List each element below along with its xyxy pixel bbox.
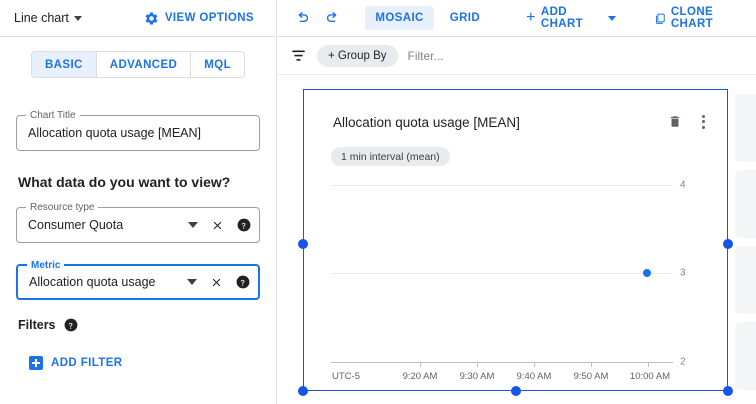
x-tick-label-950: 9:50 AM (574, 371, 609, 382)
filters-label: Filters (18, 318, 56, 332)
chevron-down-icon (74, 16, 82, 21)
dashboard-toolbar: MOSAIC GRID + ADD CHART CLONE CHART (278, 0, 756, 37)
resource-type-field[interactable]: Resource type Consumer Quota (16, 207, 260, 243)
x-tick-mark (648, 362, 649, 367)
chart-type-dropdown[interactable]: Line chart (14, 11, 82, 25)
help-icon[interactable] (236, 275, 250, 289)
filters-heading: Filters (18, 318, 78, 332)
filter-input[interactable]: Filter... (408, 49, 444, 63)
adjacent-card-placeholder[interactable] (735, 94, 756, 162)
resize-handle-bottom-center[interactable] (511, 386, 521, 396)
monitoring-chart-editor: Line chart VIEW OPTIONS BASIC ADVANCED M… (0, 0, 756, 404)
resource-type-value: Consumer Quota (28, 218, 123, 232)
x-tick-mark (591, 362, 592, 367)
resize-handle-bottom-left[interactable] (298, 386, 308, 396)
metric-value: Allocation quota usage (29, 275, 155, 289)
view-options-button[interactable]: VIEW OPTIONS (144, 11, 254, 26)
x-tick-label-920: 9:20 AM (403, 371, 438, 382)
resize-handle-right[interactable] (723, 239, 733, 249)
x-tick-label-1000: 10:00 AM (630, 371, 670, 382)
clone-chart-label: CLONE CHART (671, 6, 750, 30)
layout-grid-button[interactable]: GRID (440, 6, 490, 30)
add-chart-label: ADD CHART (541, 6, 603, 30)
tab-basic[interactable]: BASIC (32, 52, 97, 77)
chart-title-value: Allocation quota usage [MEAN] (28, 126, 201, 140)
chevron-down-icon (608, 16, 616, 21)
gear-icon (144, 11, 159, 26)
adjacent-card-placeholder[interactable] (735, 170, 756, 238)
plus-icon (29, 356, 43, 370)
close-icon[interactable] (211, 219, 224, 232)
chart-card[interactable]: Allocation quota usage [MEAN] 1 min inte… (303, 89, 728, 391)
config-tabs: BASIC ADVANCED MQL (31, 51, 245, 78)
chart-title-label: Chart Title (26, 109, 80, 122)
chevron-down-icon[interactable] (188, 222, 198, 228)
x-tick-label-940: 9:40 AM (517, 371, 552, 382)
timezone-label: UTC-5 (332, 371, 360, 382)
adjacent-card-placeholder[interactable] (735, 246, 756, 314)
y-tick-label-2: 2 (680, 357, 686, 368)
redo-button[interactable] (322, 6, 344, 30)
config-tabs-row: BASIC ADVANCED MQL (0, 37, 276, 78)
x-tick-label-930: 9:30 AM (460, 371, 495, 382)
metric-field[interactable]: Metric Allocation quota usage (16, 264, 260, 300)
x-tick-mark (477, 362, 478, 367)
metric-label: Metric (27, 259, 64, 272)
data-point[interactable] (643, 269, 651, 277)
adjacent-card-placeholder[interactable] (735, 322, 756, 390)
resize-handle-left[interactable] (298, 239, 308, 249)
help-icon[interactable] (237, 218, 251, 232)
help-icon[interactable] (64, 318, 78, 332)
undo-icon (294, 10, 311, 27)
add-filter-label: ADD FILTER (51, 357, 123, 369)
tab-mql[interactable]: MQL (191, 52, 244, 77)
groupby-filter-bar: + Group By Filter... (278, 37, 756, 75)
chart-config-panel: Line chart VIEW OPTIONS BASIC ADVANCED M… (0, 0, 277, 404)
redo-icon (324, 10, 341, 27)
resize-handle-bottom-right[interactable] (723, 386, 733, 396)
view-options-label: VIEW OPTIONS (165, 12, 254, 24)
add-chart-button[interactable]: + ADD CHART (520, 6, 622, 30)
filter-icon[interactable] (290, 47, 307, 64)
chart-title-field[interactable]: Chart Title Allocation quota usage [MEAN… (16, 115, 260, 151)
tab-advanced[interactable]: ADVANCED (97, 52, 192, 77)
resource-type-icons (188, 208, 251, 242)
layout-mosaic-button[interactable]: MOSAIC (365, 6, 433, 30)
gridline-3 (331, 273, 673, 274)
chart-plot-area: 4 3 2 UTC-5 9:20 AM 9:30 AM 9:40 AM 9:50… (304, 90, 727, 390)
metric-icons (187, 266, 250, 298)
clone-chart-button[interactable]: CLONE CHART (648, 6, 756, 30)
data-section-heading: What data do you want to view? (18, 174, 230, 190)
undo-button[interactable] (292, 6, 314, 30)
chevron-down-icon[interactable] (187, 279, 197, 285)
resource-type-label: Resource type (26, 201, 98, 214)
add-filter-button[interactable]: ADD FILTER (29, 356, 123, 370)
chart-type-label: Line chart (14, 11, 69, 25)
x-axis-line (331, 362, 673, 363)
x-tick-mark (420, 362, 421, 367)
close-icon[interactable] (210, 276, 223, 289)
group-by-chip[interactable]: + Group By (317, 45, 398, 67)
gridline-4 (331, 185, 673, 186)
y-tick-label-4: 4 (680, 180, 686, 191)
y-tick-label-3: 3 (680, 268, 686, 279)
panel-header: Line chart VIEW OPTIONS (0, 0, 276, 37)
plus-icon: + (526, 10, 536, 26)
dashboard-area: MOSAIC GRID + ADD CHART CLONE CHART (278, 0, 756, 404)
copy-icon (654, 12, 666, 25)
x-tick-mark (534, 362, 535, 367)
